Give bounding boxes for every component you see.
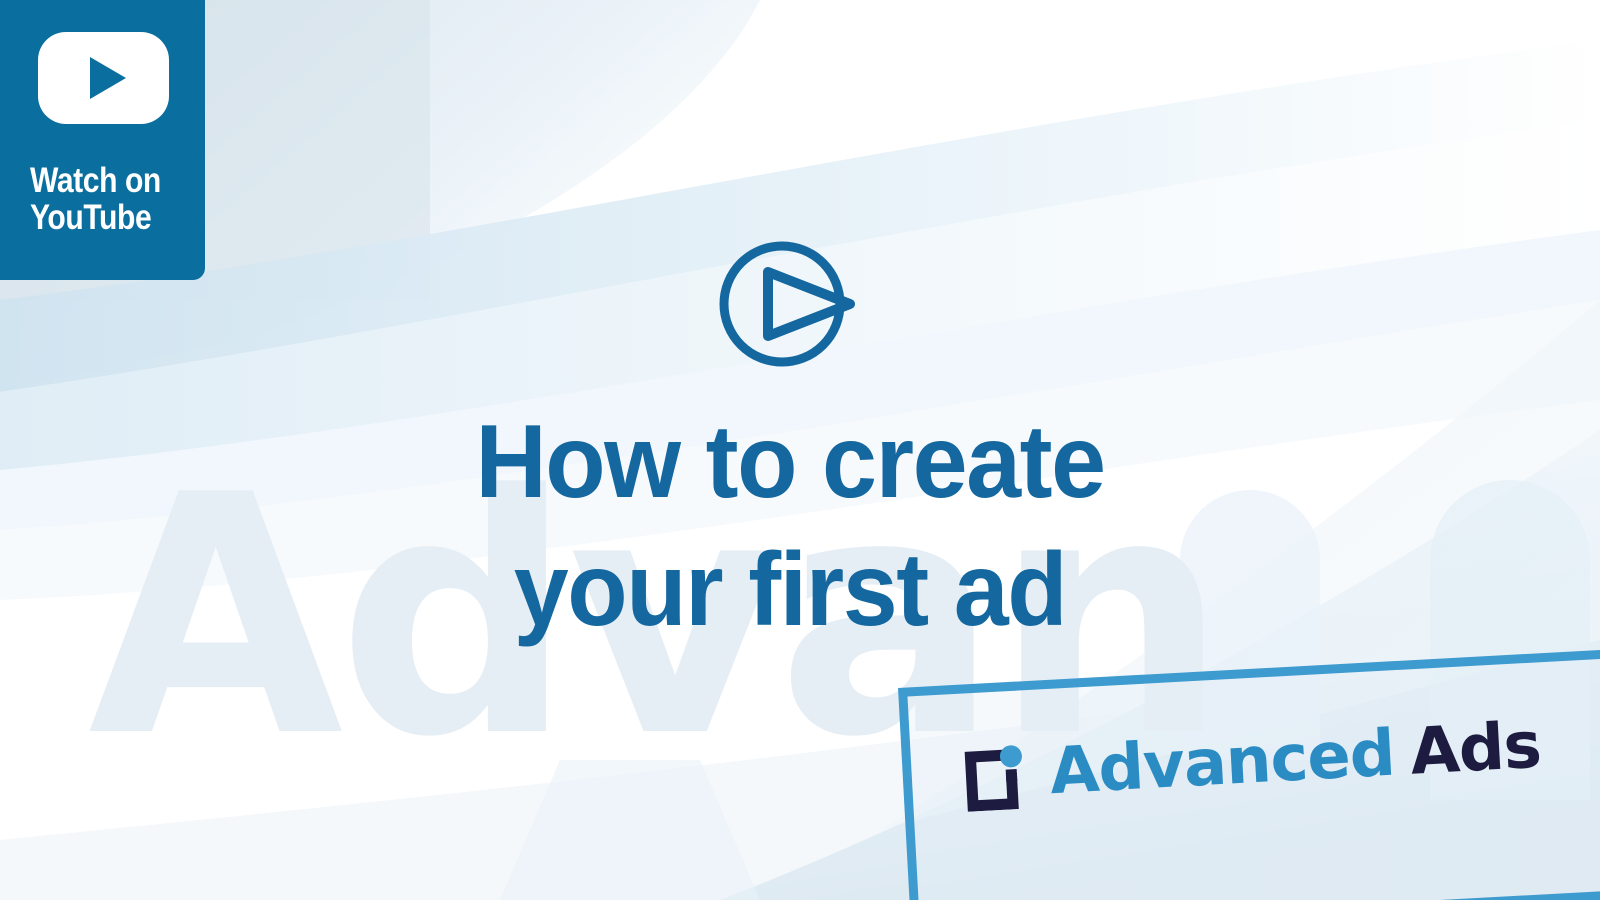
watch-on-youtube-label: Watch on YouTube xyxy=(30,162,181,236)
youtube-play-icon xyxy=(38,32,169,124)
watch-on-youtube-badge[interactable]: Watch on YouTube xyxy=(0,0,205,280)
video-thumbnail-canvas: Advan Watch on YouTube How to create you… xyxy=(0,0,1600,900)
advanced-ads-logo-mark xyxy=(960,738,1030,811)
page-title: How to create your first ad xyxy=(40,398,1541,654)
brand-word-ads: Ads xyxy=(1408,709,1542,790)
play-circle-icon[interactable] xyxy=(716,234,856,374)
